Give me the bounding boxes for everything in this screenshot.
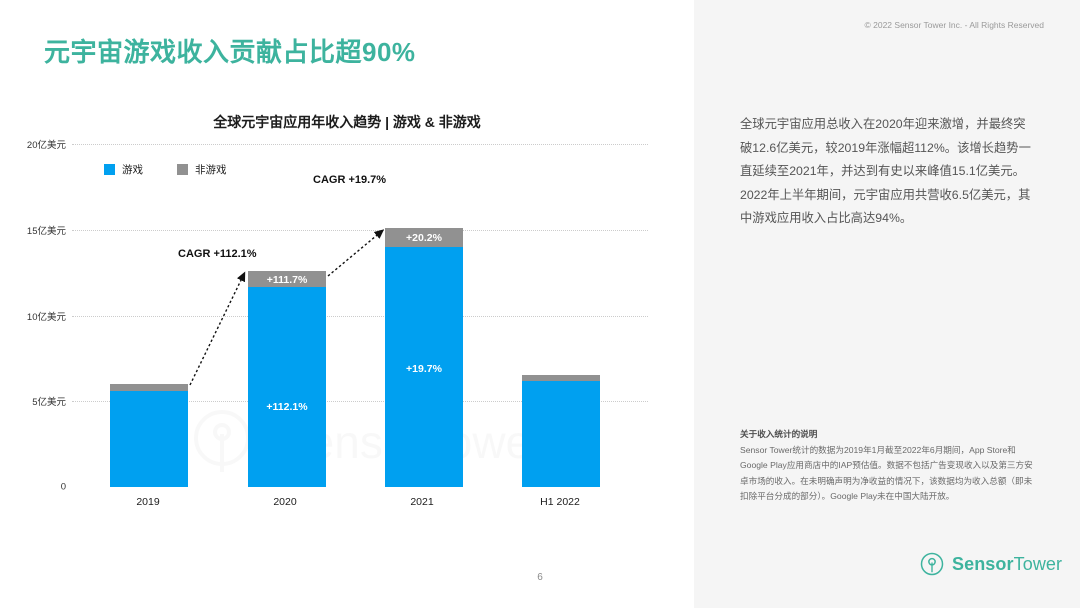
bar-2021-games-label: +19.7%	[385, 363, 463, 375]
chart-pane: 元宇宙游戏收入贡献占比超90% 全球元宇宙应用年收入趋势 | 游戏 & 非游戏 …	[0, 0, 694, 608]
x-tick-2019: 2019	[88, 496, 208, 508]
bar-2021[interactable]: +20.2% +19.7%	[385, 228, 463, 487]
bar-2021-nongames-label: +20.2%	[385, 232, 463, 244]
page-number: 6	[0, 572, 1080, 583]
bar-2021-nongames[interactable]: +20.2%	[385, 228, 463, 247]
y-axis: 0 5亿美元 10亿美元 15亿美元 20亿美元	[0, 144, 66, 487]
bar-2020[interactable]: +111.7% +112.1%	[248, 271, 326, 487]
x-tick-2020: 2020	[225, 496, 345, 508]
bar-2020-nongames[interactable]: +111.7%	[248, 271, 326, 287]
y-tick-4: 20亿美元	[4, 137, 66, 151]
chart-legend: 游戏 非游戏	[104, 162, 227, 177]
bar-2019-games[interactable]	[110, 391, 188, 487]
bar-2019[interactable]	[110, 384, 188, 487]
legend-label-nongames: 非游戏	[195, 162, 227, 177]
copyright-text: © 2022 Sensor Tower Inc. - All Rights Re…	[865, 20, 1045, 30]
gridline-10	[72, 316, 648, 317]
page-title: 元宇宙游戏收入贡献占比超90%	[44, 32, 416, 69]
y-tick-2: 10亿美元	[4, 309, 66, 323]
bar-2020-nongames-label: +111.7%	[248, 274, 326, 286]
legend-item-games[interactable]: 游戏	[104, 162, 143, 177]
slide-root: 元宇宙游戏收入贡献占比超90% 全球元宇宙应用年收入趋势 | 游戏 & 非游戏 …	[0, 0, 1080, 608]
annotation-cagr-2019-2020: CAGR +112.1%	[178, 248, 257, 260]
summary-paragraph: 全球元宇宙应用总收入在2020年迎来激增，并最终突破12.6亿美元，较2019年…	[740, 113, 1032, 231]
legend-label-games: 游戏	[122, 162, 143, 177]
footnote-block: 关于收入统计的说明 Sensor Tower统计的数据为2019年1月截至202…	[740, 428, 1040, 504]
plot-area: SensorTower +111.7% +112.1% +20.2%	[72, 144, 648, 487]
legend-swatch-nongames-icon	[177, 164, 188, 175]
logo-light: Tower	[1014, 554, 1063, 574]
bar-h1-2022[interactable]	[522, 375, 600, 487]
legend-swatch-games-icon	[104, 164, 115, 175]
footnote-title: 关于收入统计的说明	[740, 428, 1040, 440]
chart-title: 全球元宇宙应用年收入趋势 | 游戏 & 非游戏	[0, 112, 694, 132]
y-tick-1: 5亿美元	[4, 394, 66, 408]
bar-2019-nongames[interactable]	[110, 384, 188, 391]
footnote-body: Sensor Tower统计的数据为2019年1月截至2022年6月期间，App…	[740, 443, 1040, 504]
gridline-20	[72, 144, 648, 145]
annotation-cagr-2020-2021: CAGR +19.7%	[313, 174, 386, 186]
y-tick-0: 0	[4, 482, 66, 493]
x-tick-2021: 2021	[362, 496, 482, 508]
sidebar-pane: © 2022 Sensor Tower Inc. - All Rights Re…	[694, 0, 1080, 608]
bar-2020-games[interactable]: +112.1%	[248, 287, 326, 487]
bar-h1-2022-games[interactable]	[522, 381, 600, 487]
bar-2021-games[interactable]: +19.7%	[385, 247, 463, 487]
legend-item-nongames[interactable]: 非游戏	[177, 162, 227, 177]
logo-bold: Sensor	[952, 554, 1014, 574]
bar-2020-games-label: +112.1%	[248, 401, 326, 413]
x-tick-h1-2022: H1 2022	[500, 496, 620, 508]
gridline-15	[72, 230, 648, 231]
y-tick-3: 15亿美元	[4, 223, 66, 237]
